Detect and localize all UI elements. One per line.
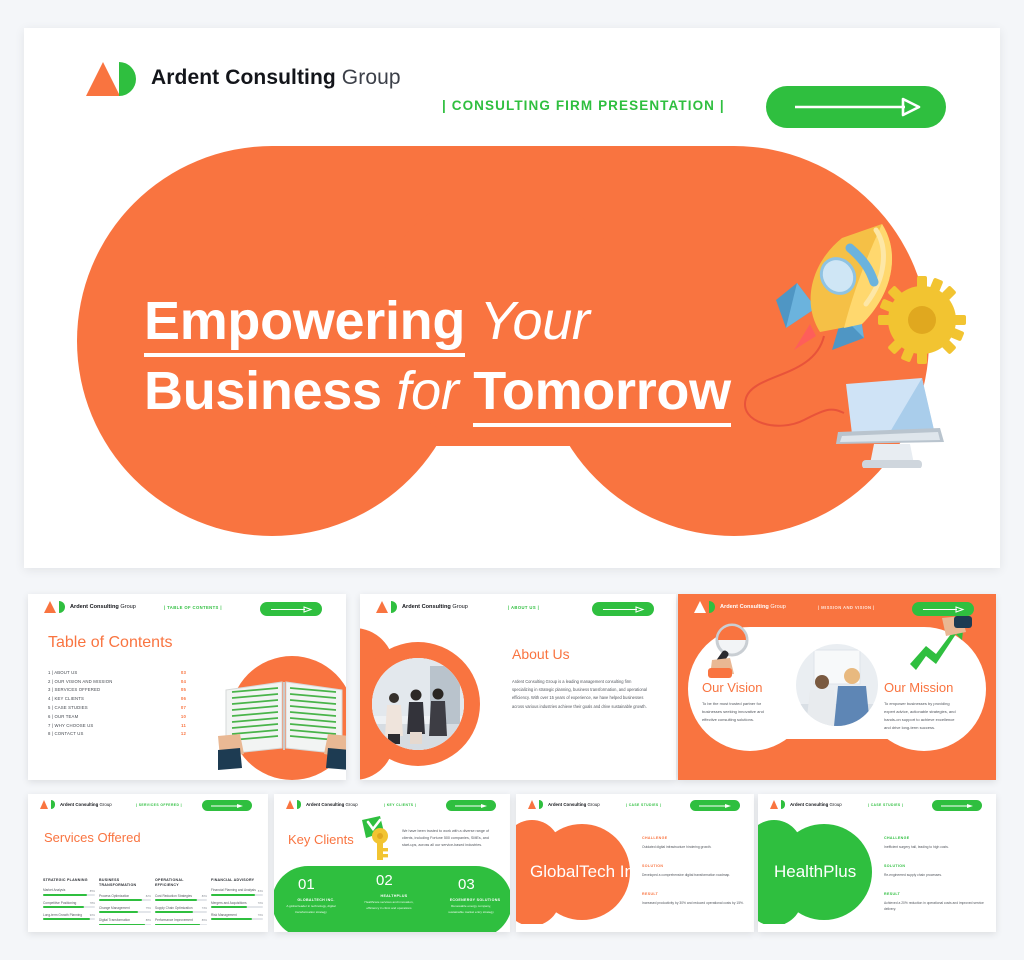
half-circle-icon (539, 800, 543, 809)
thumb-kicker: | CASE STUDIES | (626, 803, 661, 807)
case-section-heading: RESULT (884, 892, 994, 896)
right-arrow-icon (697, 803, 733, 809)
right-arrow-icon (921, 606, 965, 613)
service-item: Competitive Positioning78% (43, 901, 95, 908)
case-section: SOLUTION Developed a comprehensive digit… (642, 864, 752, 878)
slide-thumb-vision-mission[interactable]: Ardent Consulting Group | MISSION AND VI… (678, 594, 996, 780)
triangle-icon (286, 800, 294, 809)
triangle-icon (376, 601, 388, 613)
thumb-brand-name: Ardent Consulting Group (790, 802, 842, 807)
hero-title-word-3: Business (144, 361, 382, 421)
thumb-brand-light: Group (344, 802, 357, 807)
service-column: OPERATIONAL EFFICIENCY Cost Reduction St… (155, 878, 207, 930)
brand-name-bold: Ardent Consulting (151, 66, 336, 89)
key-clients-intro: We have been trusted to work with a dive… (402, 828, 494, 850)
slide-thumb-about-us[interactable]: Ardent Consulting Group | ABOUT US | (360, 594, 676, 780)
thumb-brand-name: Ardent Consulting Group (402, 604, 468, 610)
thumb-brand-light: Group (769, 604, 786, 610)
half-circle-icon (709, 601, 715, 613)
list-item[interactable]: 4 | KEY CLIENTS06 (48, 694, 186, 703)
service-pct: 78% (90, 902, 95, 905)
case-section-heading: CHALLENGE (884, 836, 994, 840)
case-section-heading: RESULT (642, 892, 752, 896)
service-label: Cost Reduction Strategies (155, 894, 207, 898)
case-client-name: HealthPlus (774, 862, 856, 882)
progress-bar: 84% (211, 894, 263, 896)
hero-title-word-1: Empowering (144, 291, 465, 357)
case-section-body: Achieved a 20% reduction in operational … (884, 900, 994, 912)
right-arrow-icon (269, 606, 313, 613)
vision-title: Our Vision (702, 680, 762, 695)
case-section: SOLUTION Re-engineered supply chain proc… (884, 864, 994, 878)
triangle-icon (770, 800, 778, 809)
case-section: RESULT Increased productivity by 30% and… (642, 892, 752, 906)
service-pct: 82% (146, 895, 151, 898)
list-item[interactable]: 6 | OUR TEAM10 (48, 712, 186, 721)
toc-label: 4 | KEY CLIENTS (48, 696, 84, 701)
business-people-meeting-photo (372, 658, 464, 750)
toc-page: 10 (181, 714, 186, 719)
thumb-title: Services Offered (44, 830, 141, 845)
triangle-icon (44, 601, 56, 613)
client-text: Healthcare services and innovation, effi… (362, 900, 416, 912)
vision-body: To be the most trusted partner for busin… (702, 700, 772, 724)
progress-bar: 88% (99, 924, 151, 926)
list-item[interactable]: 8 | CONTACT US12 (48, 729, 186, 738)
thumb-kicker: | KEY CLIENTS | (384, 803, 416, 807)
thumb-brand-name: Ardent Consulting Group (70, 604, 136, 610)
case-section: RESULT Achieved a 20% reduction in opera… (884, 892, 994, 912)
thumb-brand-bold: Ardent Consulting (70, 604, 119, 610)
case-section-heading: SOLUTION (642, 864, 752, 868)
mission-body: To empower businesses by providing exper… (884, 700, 958, 732)
toc-page: 05 (181, 687, 186, 692)
service-pct: 86% (202, 919, 207, 922)
slide-thumb-services-offered[interactable]: Ardent Consulting Group | SERVICES OFFER… (28, 794, 268, 932)
client-text: A global leader in technology, digital t… (284, 904, 338, 916)
thumb-next-button[interactable] (592, 602, 654, 616)
service-item: Cost Reduction Strategies80% (155, 894, 207, 901)
right-arrow-icon (453, 803, 489, 809)
progress-bar: 73% (155, 911, 207, 913)
thumb-kicker: | ABOUT US | (508, 605, 539, 610)
about-body-text: Ardent Consulting Group is a leading man… (512, 678, 650, 711)
right-arrow-icon (791, 96, 921, 118)
thumb-logo: Ardent Consulting Group (44, 601, 136, 613)
hero-title-word-4: for (396, 361, 458, 421)
service-pct: 85% (90, 890, 95, 893)
progress-bar: 75% (99, 911, 151, 913)
toc-label: 3 | SERVICES OFFERED (48, 687, 100, 692)
service-label: Process Optimization (99, 894, 151, 898)
service-item: Change Management75% (99, 906, 151, 913)
service-pct: 70% (258, 902, 263, 905)
client-heading: HEALTHPLUS (362, 894, 426, 898)
thumb-title: Table of Contents (48, 634, 173, 652)
triangle-icon (528, 800, 536, 809)
half-circle-icon (391, 601, 397, 613)
toc-label: 6 | OUR TEAM (48, 714, 78, 719)
thumb-brand-bold: Ardent Consulting (790, 802, 828, 807)
hero-title-word-2: Your (480, 291, 590, 351)
service-item: Mergers and Acquisitions70% (211, 901, 263, 908)
progress-bar: 78% (43, 906, 95, 908)
service-pct: 88% (146, 919, 151, 922)
service-column: BUSINESS TRANSFORMATION Process Optimiza… (99, 878, 151, 930)
service-item: Risk Management79% (211, 913, 263, 920)
progress-bar: 79% (211, 918, 263, 920)
thumb-next-button[interactable] (446, 800, 496, 811)
half-circle-icon (781, 800, 785, 809)
thumb-brand-bold: Ardent Consulting (548, 802, 586, 807)
thumb-brand-name: Ardent Consulting Group (60, 802, 112, 807)
service-pct: 73% (202, 907, 207, 910)
list-item[interactable]: 1 | ABOUT US03 (48, 668, 186, 677)
service-pct: 80% (202, 895, 207, 898)
toc-page: 04 (181, 679, 186, 684)
thumb-title: Key Clients (288, 832, 354, 847)
thumb-logo: Ardent Consulting Group (376, 601, 468, 613)
service-heading: STRATEGIC PLANNING (43, 878, 95, 883)
thumb-brand-bold: Ardent Consulting (306, 802, 344, 807)
progress-bar: 80% (155, 899, 207, 901)
service-pct: 75% (146, 907, 151, 910)
service-label: Financial Planning and Analysis (211, 888, 263, 892)
list-item[interactable]: 7 | WHY CHOOSE US11 (48, 721, 186, 730)
service-column: FINANCIAL ADVISORY Financial Planning an… (211, 878, 263, 925)
growth-arrow-icon (906, 616, 972, 674)
thumb-brand-light: Group (119, 604, 136, 610)
toc-list: 1 | ABOUT US03 2 | OUR VISION AND MISSIO… (48, 668, 186, 738)
toc-label: 5 | CASE STUDIES (48, 705, 88, 710)
thumb-brand-bold: Ardent Consulting (720, 604, 769, 610)
service-pct: 84% (258, 890, 263, 893)
hero-slide[interactable]: Ardent Consulting Group | CONSULTING FIR… (24, 28, 1000, 568)
triangle-icon (694, 601, 706, 613)
hero-kicker-label: | CONSULTING FIRM PRESENTATION | (442, 98, 725, 113)
thumb-logo: Ardent Consulting Group (528, 800, 600, 809)
slide-thumb-case-study-healthplus[interactable]: Ardent Consulting Group | CASE STUDIES |… (758, 794, 996, 932)
case-section-body: Re-engineered supply chain processes. (884, 872, 994, 878)
slide-thumb-case-study-globaltech[interactable]: Ardent Consulting Group | CASE STUDIES |… (516, 794, 754, 932)
toc-page: 12 (181, 731, 186, 736)
toc-page: 07 (181, 705, 186, 710)
team-discussion-photo (168, 820, 260, 870)
mission-title: Our Mission (884, 680, 953, 695)
hero-title-word-5: Tomorrow (473, 361, 731, 427)
toc-page: 06 (181, 696, 186, 701)
triangle-icon (40, 800, 48, 809)
service-item: Digital Transformation88% (99, 918, 151, 925)
service-label: Performance Improvement (155, 918, 207, 922)
thumb-kicker: | MISSION AND VISION | (818, 605, 875, 610)
half-circle-icon (297, 800, 301, 809)
case-section: CHALLENGE Outdated digital infrastructur… (642, 836, 752, 850)
hands-holding-open-book-image (218, 662, 346, 772)
service-item: Financial Planning and Analysis84% (211, 888, 263, 895)
service-heading: BUSINESS TRANSFORMATION (99, 878, 151, 889)
service-label: Mergers and Acquisitions (211, 901, 263, 905)
key-icon (356, 816, 400, 860)
progress-bar: 90% (43, 918, 95, 920)
list-item[interactable]: 2 | OUR VISION AND MISSION04 (48, 677, 186, 686)
case-section-body: Increased productivity by 30% and reduce… (642, 900, 752, 906)
toc-label: 1 | ABOUT US (48, 670, 77, 675)
case-section-heading: CHALLENGE (642, 836, 752, 840)
thumb-next-button[interactable] (260, 602, 322, 616)
service-pct: 90% (90, 914, 95, 917)
service-label: Competitive Positioning (43, 901, 95, 905)
thumb-logo: Ardent Consulting Group (694, 601, 786, 613)
service-heading: OPERATIONAL EFFICIENCY (155, 878, 207, 889)
progress-bar: 70% (211, 906, 263, 908)
service-pct: 79% (258, 914, 263, 917)
laptop-icon (836, 378, 944, 468)
thumb-logo: Ardent Consulting Group (286, 800, 358, 809)
logo-mark-icon (86, 58, 142, 98)
rocket-gear-laptop-illustration (724, 208, 1000, 468)
service-label: Long-term Growth Planning (43, 913, 95, 917)
hero-title: Empowering Your Business for Tomorrow (144, 286, 744, 426)
right-arrow-icon (209, 803, 245, 809)
client-number: 02 (376, 872, 393, 889)
service-column: STRATEGIC PLANNING Market Analysis85% Co… (43, 878, 95, 925)
service-item: Market Analysis85% (43, 888, 95, 895)
slide-thumb-table-of-contents[interactable]: Ardent Consulting Group | TABLE OF CONTE… (28, 594, 346, 780)
service-label: Market Analysis (43, 888, 95, 892)
toc-label: 2 | OUR VISION AND MISSION (48, 679, 112, 684)
slide-thumb-key-clients[interactable]: Ardent Consulting Group | KEY CLIENTS | … (274, 794, 510, 932)
brand-name-light: Group (336, 66, 401, 89)
triangle-icon (86, 62, 120, 96)
case-section: CHALLENGE Inefficient surgery hall, lead… (884, 836, 994, 850)
toc-label: 8 | CONTACT US (48, 731, 84, 736)
half-circle-icon (119, 62, 136, 96)
thumb-next-button[interactable] (912, 602, 974, 616)
half-circle-icon (51, 800, 55, 809)
thumb-kicker: | CASE STUDIES | (868, 803, 903, 807)
brand-logo[interactable]: Ardent Consulting Group (86, 58, 401, 98)
thumb-next-button[interactable] (690, 800, 740, 811)
thumb-title: About Us (512, 646, 570, 662)
client-number: 03 (458, 876, 475, 893)
service-item: Long-term Growth Planning90% (43, 913, 95, 920)
thumb-next-button[interactable] (202, 800, 252, 811)
service-item: Process Optimization82% (99, 894, 151, 901)
progress-bar: 86% (155, 924, 207, 926)
service-heading: FINANCIAL ADVISORY (211, 878, 263, 883)
half-circle-icon (59, 601, 65, 613)
case-section-body: Developed a comprehensive digital transf… (642, 872, 752, 878)
service-item: Performance Improvement86% (155, 918, 207, 925)
next-arrow-button[interactable] (766, 86, 946, 128)
thumb-logo: Ardent Consulting Group (40, 800, 112, 809)
client-heading: ECOENERGY SOLUTIONS (440, 898, 510, 902)
thumb-brand-name: Ardent Consulting Group (306, 802, 358, 807)
thumb-brand-light: Group (451, 604, 468, 610)
thumb-brand-name: Ardent Consulting Group (720, 604, 786, 610)
case-client-name: GlobalTech Inc. (530, 862, 647, 882)
gear-icon (878, 276, 966, 364)
thumb-brand-light: Group (98, 802, 111, 807)
service-label: Supply Chain Optimization (155, 906, 207, 910)
toc-page: 03 (181, 670, 186, 675)
thumb-kicker: | TABLE OF CONTENTS | (164, 605, 222, 610)
thumb-brand-bold: Ardent Consulting (60, 802, 98, 807)
thumb-next-button[interactable] (932, 800, 982, 811)
case-section-body: Inefficient surgery hall, leading to hig… (884, 844, 994, 850)
toc-page: 11 (181, 723, 186, 728)
service-label: Risk Management (211, 913, 263, 917)
thumb-kicker: | SERVICES OFFERED | (136, 803, 182, 807)
client-text: Renewable energy company, sustainable ma… (444, 904, 498, 916)
client-number: 01 (298, 876, 315, 893)
service-label: Digital Transformation (99, 918, 151, 922)
right-arrow-icon (601, 606, 645, 613)
case-section-body: Outdated digital infrastructure hinderin… (642, 844, 752, 850)
case-section-heading: SOLUTION (884, 864, 994, 868)
service-item: Supply Chain Optimization73% (155, 906, 207, 913)
thumb-brand-bold: Ardent Consulting (402, 604, 451, 610)
thumb-brand-name: Ardent Consulting Group (548, 802, 600, 807)
thumb-brand-light: Group (828, 802, 841, 807)
brand-name: Ardent Consulting Group (151, 66, 401, 90)
colleagues-whiteboard-photo (796, 644, 878, 726)
magnifying-glass-icon (704, 620, 762, 678)
presentation-template-page: Ardent Consulting Group | CONSULTING FIR… (0, 0, 1024, 960)
list-item[interactable]: 5 | CASE STUDIES07 (48, 703, 186, 712)
thumb-brand-light: Group (586, 802, 599, 807)
service-label: Change Management (99, 906, 151, 910)
list-item[interactable]: 3 | SERVICES OFFERED05 (48, 686, 186, 695)
progress-bar: 82% (99, 899, 151, 901)
client-heading: GLOBALTECH INC. (284, 898, 348, 902)
thumb-logo: Ardent Consulting Group (770, 800, 842, 809)
right-arrow-icon (939, 803, 975, 809)
toc-label: 7 | WHY CHOOSE US (48, 723, 93, 728)
progress-bar: 85% (43, 894, 95, 896)
